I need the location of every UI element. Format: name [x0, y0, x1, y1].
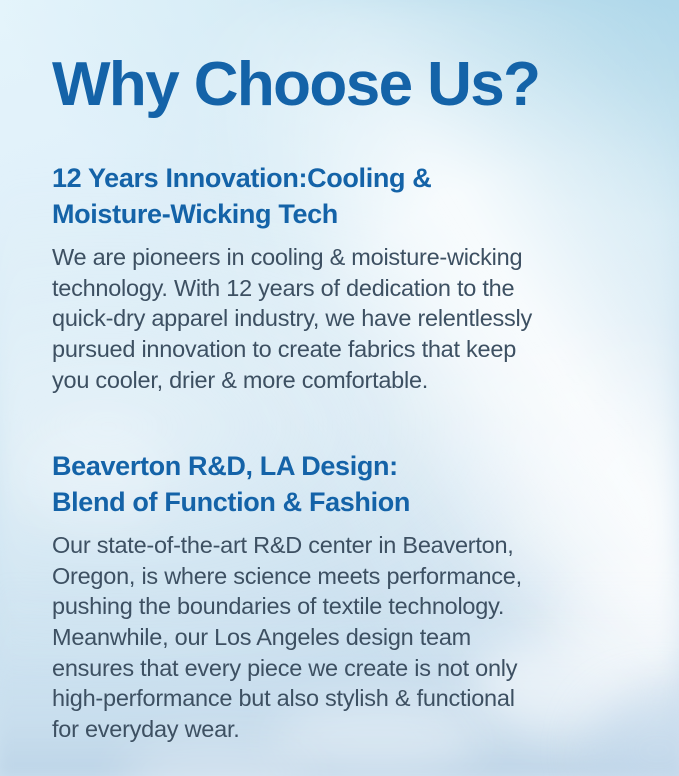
body-line: Our state-of-the-art R&D center in Beave…: [52, 530, 649, 561]
banner-content: Why Choose Us? 12 Years Innovation:Cooli…: [0, 0, 679, 776]
body-line: high-performance but also stylish & func…: [52, 683, 649, 714]
section-heading-design: Beaverton R&D, LA Design: Blend of Funct…: [52, 449, 649, 520]
section-body-design: Our state-of-the-art R&D center in Beave…: [52, 530, 649, 744]
heading-line: Moisture-Wicking Tech: [52, 197, 649, 233]
section-body-innovation: We are pioneers in cooling & moisture-wi…: [52, 242, 649, 395]
body-line: you cooler, drier & more comfortable.: [52, 365, 649, 396]
body-line: for everyday wear.: [52, 714, 649, 745]
section-heading-innovation: 12 Years Innovation:Cooling & Moisture-W…: [52, 161, 649, 232]
body-line: ensures that every piece we create is no…: [52, 653, 649, 684]
body-line: technology. With 12 years of dedication …: [52, 273, 649, 304]
why-choose-us-banner: Why Choose Us? 12 Years Innovation:Cooli…: [0, 0, 679, 776]
body-line: pushing the boundaries of textile techno…: [52, 591, 649, 622]
body-line: Meanwhile, our Los Angeles design team: [52, 622, 649, 653]
heading-line: Blend of Function & Fashion: [52, 485, 649, 521]
body-line: We are pioneers in cooling & moisture-wi…: [52, 242, 649, 273]
section-innovation: 12 Years Innovation:Cooling & Moisture-W…: [52, 117, 649, 395]
page-title: Why Choose Us?: [52, 0, 649, 117]
section-design: Beaverton R&D, LA Design: Blend of Funct…: [52, 395, 649, 744]
body-line: quick-dry apparel industry, we have rele…: [52, 303, 649, 334]
body-line: Oregon, is where science meets performan…: [52, 561, 649, 592]
body-line: pursued innovation to create fabrics tha…: [52, 334, 649, 365]
heading-line: Beaverton R&D, LA Design:: [52, 449, 649, 485]
heading-line: 12 Years Innovation:Cooling &: [52, 161, 649, 197]
